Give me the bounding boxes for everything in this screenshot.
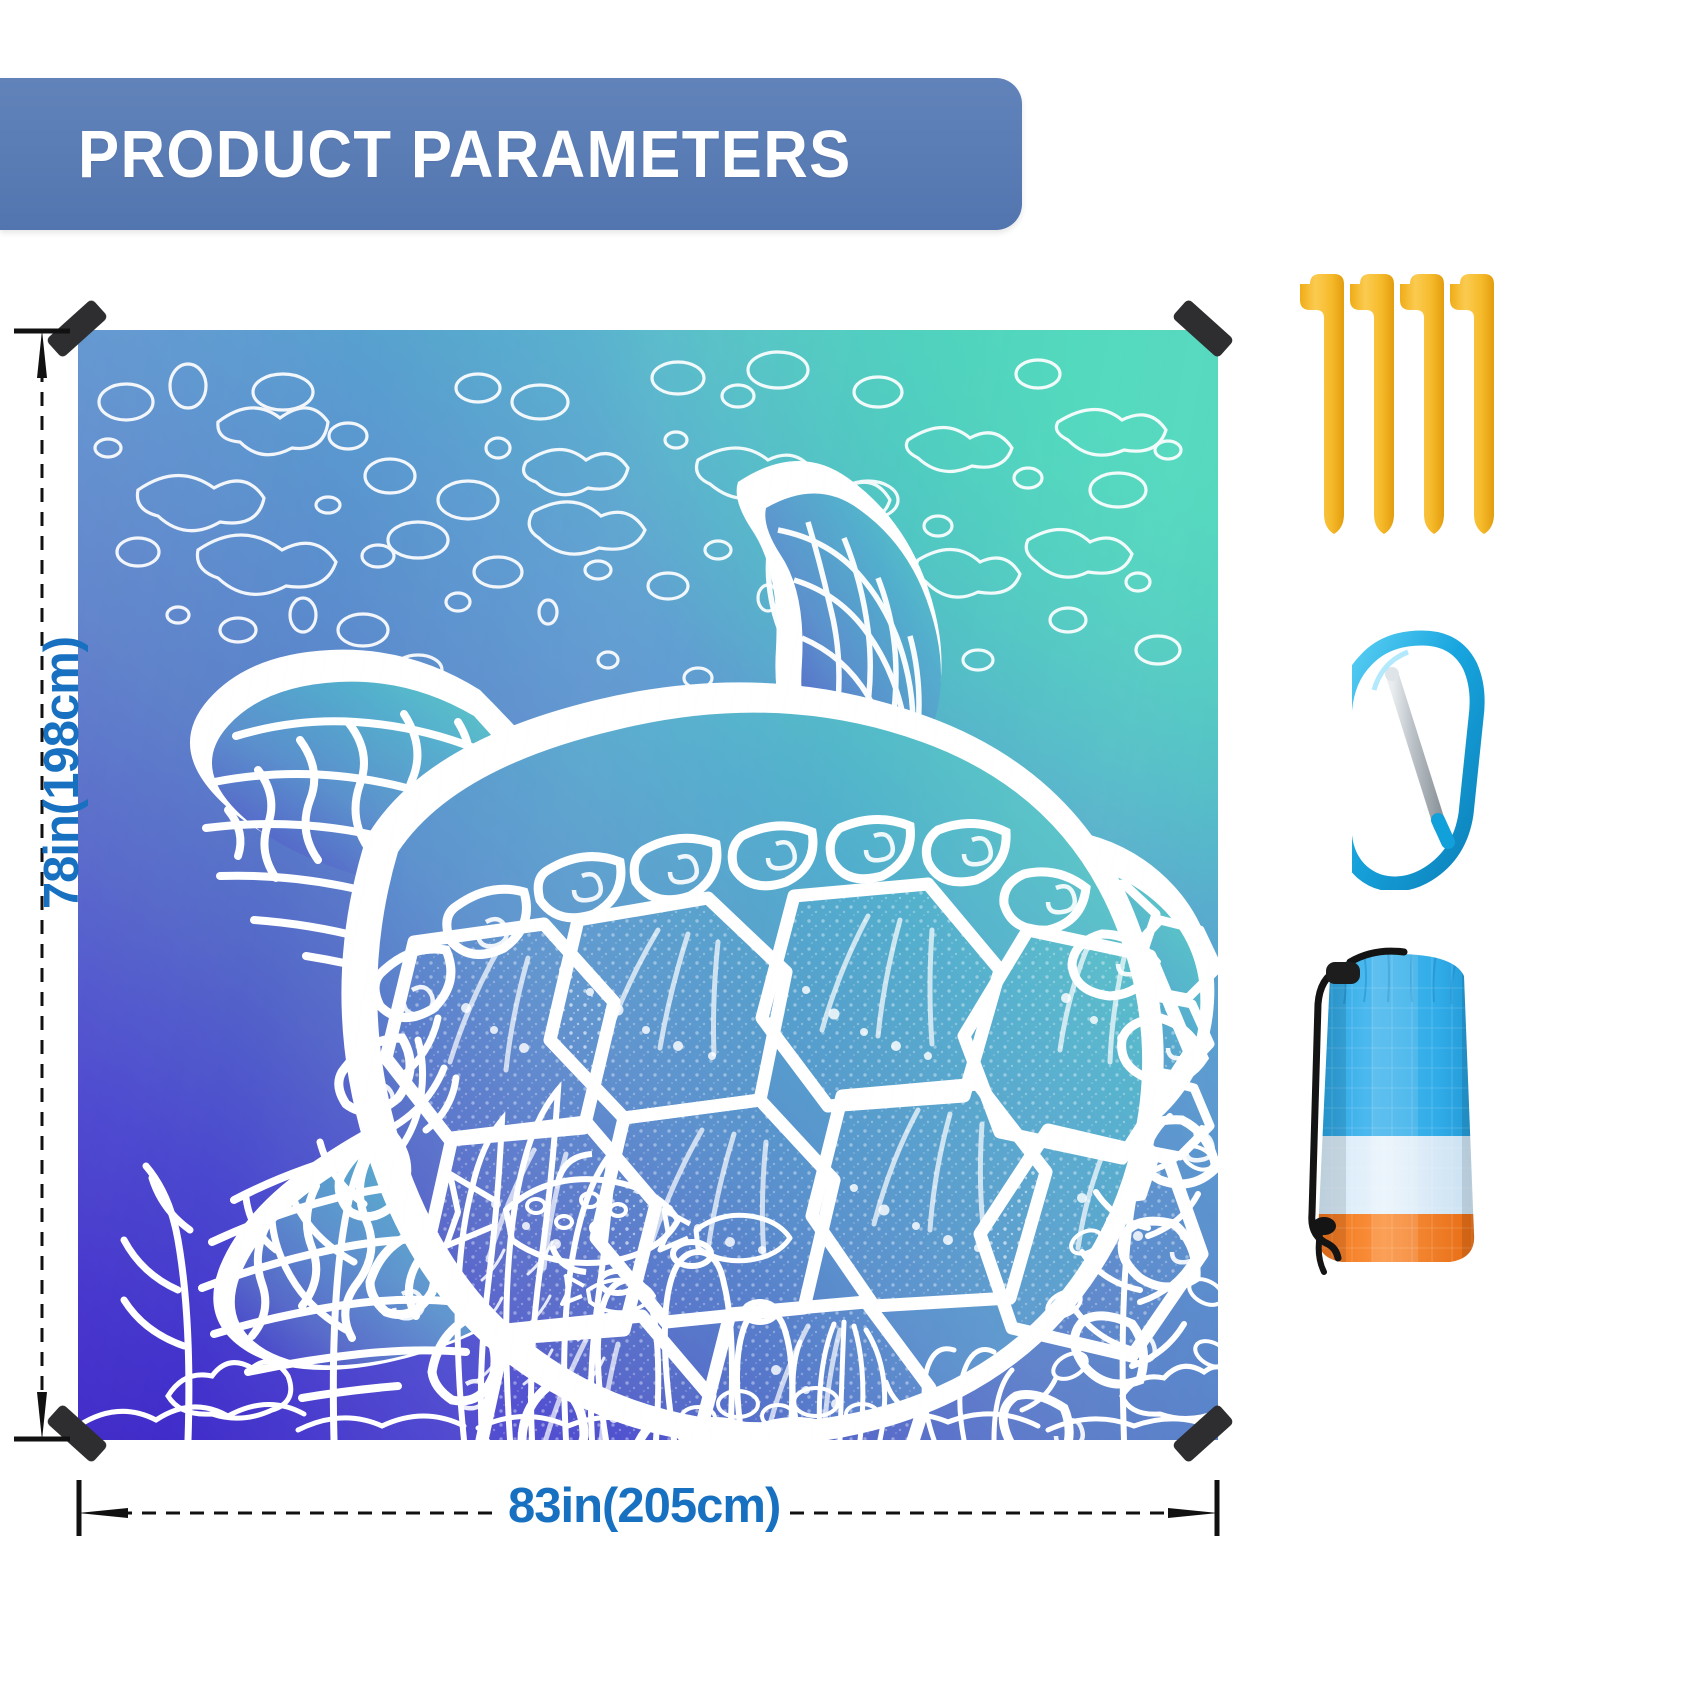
cord-lock-toggle xyxy=(1326,962,1360,984)
width-dimension-label: 83in(205cm) xyxy=(498,1478,790,1534)
carabiner-clip xyxy=(1352,630,1492,890)
width-cap-left xyxy=(76,1480,82,1536)
page-title: PRODUCT PARAMETERS xyxy=(78,116,852,193)
tent-stake xyxy=(1400,274,1444,534)
product-parameters-infographic: PRODUCT PARAMETERS xyxy=(0,0,1700,1700)
bubble-pattern xyxy=(95,352,1181,688)
tent-stake xyxy=(1300,274,1344,534)
carabiner-gate-catch xyxy=(1438,820,1448,842)
blanket-fabric xyxy=(78,330,1218,1440)
tent-stakes-group xyxy=(1298,262,1508,542)
tent-stake xyxy=(1450,274,1494,534)
cord-knot xyxy=(1312,1217,1336,1235)
carabiner-gate xyxy=(1392,674,1440,826)
width-cap-right xyxy=(1214,1480,1220,1536)
height-dimension-label: 78in(198cm) xyxy=(34,583,90,963)
blanket-artwork xyxy=(78,330,1218,1440)
drawstring-stuff-sack xyxy=(1272,928,1522,1296)
header-banner: PRODUCT PARAMETERS xyxy=(0,78,1022,230)
height-cap-bottom xyxy=(14,1436,70,1442)
beach-blanket-image xyxy=(78,330,1218,1440)
tent-stake xyxy=(1350,274,1394,534)
height-cap-top xyxy=(14,328,70,334)
